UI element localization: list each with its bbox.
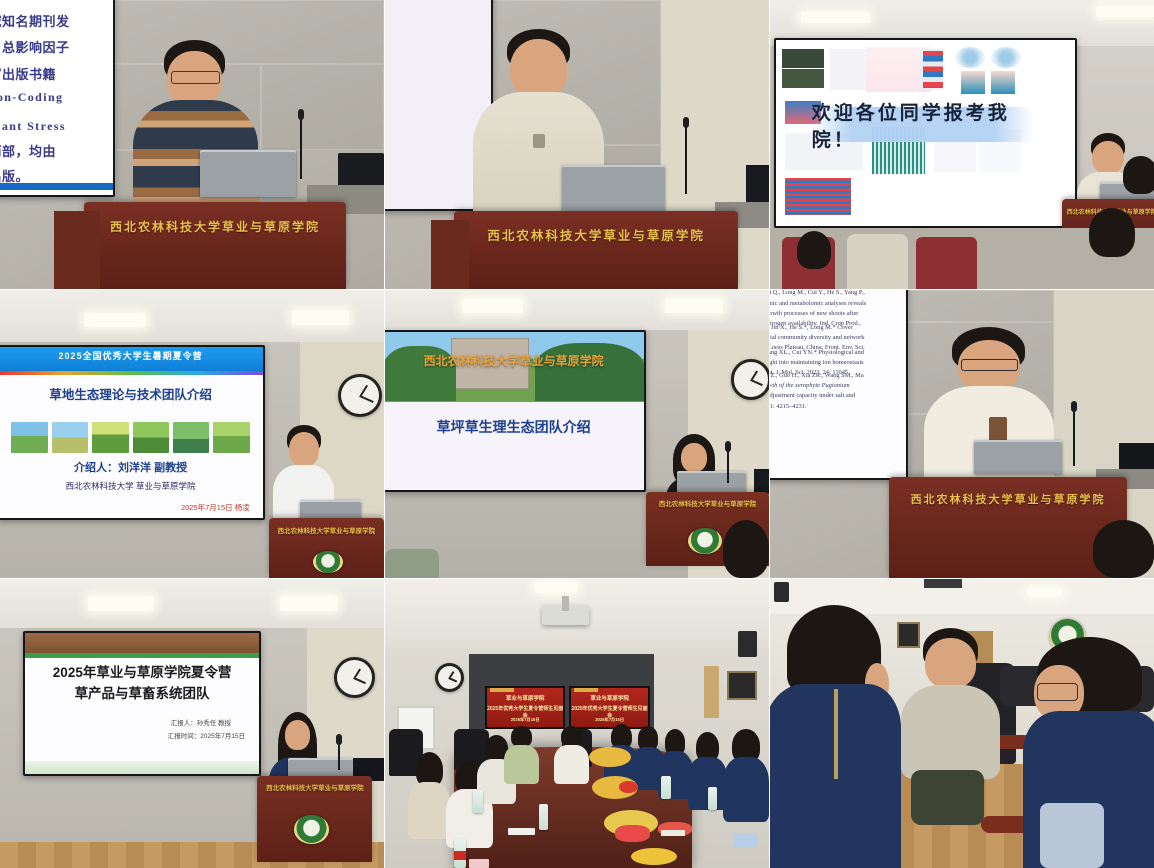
slide-line-5: 》两部，均由 xyxy=(0,141,56,160)
slide-banner-image xyxy=(25,633,259,653)
thumbnail xyxy=(52,422,88,453)
slide-affiliation: 西北农林科技大学 草业与草原学院 xyxy=(0,481,263,492)
torso xyxy=(408,782,450,839)
laptop[interactable] xyxy=(200,150,296,196)
audience-head xyxy=(797,231,832,269)
door xyxy=(704,666,719,718)
head xyxy=(925,638,977,689)
attendee-left xyxy=(504,726,539,784)
projector xyxy=(924,579,962,588)
wall-panel xyxy=(261,64,384,151)
head xyxy=(1092,141,1124,174)
faculty-member xyxy=(901,628,1001,825)
ceiling-light xyxy=(801,12,870,24)
shirt-graphic xyxy=(989,417,1007,441)
water-bottle xyxy=(661,776,671,799)
laptop[interactable] xyxy=(974,440,1062,475)
podium-side xyxy=(54,211,100,289)
wall-clock xyxy=(334,657,375,698)
slide-body: 草坪草生理生态团队介绍 xyxy=(385,402,644,490)
audience-head xyxy=(1089,208,1135,257)
glasses-icon xyxy=(961,359,1018,371)
reference-line: lfa regrowth processes of new shoots aft… xyxy=(770,309,900,319)
college-emblem xyxy=(688,528,722,554)
projection-screen: 欢迎各位同学报考我院！ xyxy=(774,38,1077,229)
shirt-logo xyxy=(533,134,545,148)
projection-screen: 西北农林科技大学草业与草原学院 草坪草生理生态团队介绍 xyxy=(385,330,646,491)
bananas xyxy=(631,848,677,865)
wall-panel xyxy=(908,290,1054,322)
reference-line: 2020, 71: 4215–4231. xyxy=(770,402,900,412)
microphone xyxy=(727,448,729,483)
monitor xyxy=(746,165,769,205)
collage-cell-1[interactable]: 领域知名期刊发 篇，总影响因子 编写出版书籍 g Non-Coding 《Pla… xyxy=(0,0,384,289)
thumbnail xyxy=(92,422,128,453)
microphone xyxy=(338,741,340,770)
slide-green-bar xyxy=(25,653,259,658)
reference-line: for growth of the xerophyte Pugionium xyxy=(770,381,900,391)
slide-date: 汇报时间：2025年7月15日 xyxy=(168,730,245,740)
collage-cell-2[interactable]: 西北农林科技大学草业与草原学院 xyxy=(385,0,769,289)
collage-cell-6[interactable]: g W., Li Q., Long M., Cui Y., He S., Yan… xyxy=(770,290,1154,578)
reference-line: scriptomic and metabolomic analyses reve… xyxy=(770,299,900,309)
fruit-platter xyxy=(589,747,631,767)
water-bottle xyxy=(539,804,549,830)
bar-chart xyxy=(961,71,985,93)
slide-line-6: 社出版。 xyxy=(0,166,29,185)
ceiling-light xyxy=(1027,588,1062,597)
podium-plaque: 西北农林科技大学草业与草原学院 xyxy=(269,525,384,535)
name-card xyxy=(508,828,535,835)
head xyxy=(681,443,706,472)
microphone xyxy=(300,116,302,180)
slide-surface: g W., Li Q., Long M., Cui Y., He S., Yan… xyxy=(770,290,906,478)
banner-line1: 草业与草原学院 xyxy=(485,694,566,702)
monitor xyxy=(754,469,769,495)
student-left xyxy=(770,605,901,868)
thumbnail xyxy=(173,422,209,453)
logo-strip xyxy=(574,688,598,692)
glasses-icon xyxy=(171,71,220,84)
college-emblem xyxy=(294,815,329,844)
slide-presenter: 汇报人：孙秀任 教授 xyxy=(171,717,231,727)
bar-chart xyxy=(991,71,1015,93)
water-bottle xyxy=(454,839,466,868)
collage-cell-3[interactable]: 欢迎各位同学报考我院！ 西北农林科技大学草业与草原学院 xyxy=(770,0,1154,289)
slide-line-0: 领域知名期刊发 xyxy=(0,11,69,30)
slide-line-4: 《Plant Stress xyxy=(0,117,66,134)
slide-footer: 2025年7月15日 杨凌 xyxy=(181,502,250,513)
slide-presenter: 介绍人：刘洋洋 副教授 xyxy=(0,462,263,476)
attendee-right xyxy=(723,729,769,821)
microphone xyxy=(685,124,687,193)
water-bottle xyxy=(708,787,718,810)
podium: 西北农林科技大学草业与草原学院 xyxy=(454,211,738,289)
slide-surface: 领域知名期刊发 篇，总影响因子 编写出版书籍 g Non-Coding 《Pla… xyxy=(0,0,113,195)
projection-screen: g W., Li Q., Long M., Cui Y., He S., Yan… xyxy=(770,290,908,480)
notebook xyxy=(734,833,757,847)
podium: 西北农林科技大学草业与草原学院 xyxy=(84,202,345,289)
ceiling-light xyxy=(88,596,153,610)
slide-surface: 2025年草业与草原学院夏令营 草产品与草畜系统团队 汇报人：孙秀任 教授 汇报… xyxy=(25,633,259,774)
reference-line: Wang FZ., Guo H., Xia ZR., Wang SM., Ma xyxy=(770,371,900,381)
poster-panel xyxy=(830,49,866,90)
photo-collage: 领域知名期刊发 篇，总影响因子 编写出版书籍 g Non-Coding 《Pla… xyxy=(0,0,1154,866)
reference-line: g J., Wang XL., Cui YN.* Physiological a… xyxy=(770,348,900,358)
slide-title-line2: 草产品与草畜系统团队 xyxy=(25,686,259,703)
podium-plaque: 西北农林科技大学草业与草原学院 xyxy=(84,218,345,235)
jeans xyxy=(1040,803,1104,868)
cell-image xyxy=(955,47,985,68)
podium-plaque: 西北农林科技大学草业与草原学院 xyxy=(454,225,738,244)
wall-picture-frame xyxy=(727,671,758,700)
ceiling-light xyxy=(292,310,350,324)
podium-plaque: 西北农林科技大学草业与草原学院 xyxy=(646,498,769,508)
ceiling-light xyxy=(535,582,577,594)
laptop[interactable] xyxy=(562,165,666,211)
name-card xyxy=(661,830,684,836)
thumbnail xyxy=(133,422,169,453)
reference-line: l-bacterial community diversity and netw… xyxy=(770,333,900,343)
wall-clock xyxy=(435,663,464,692)
reference-line: motic adjustment capacity under salt and xyxy=(770,391,900,401)
ceiling-light xyxy=(280,596,338,610)
glasses-icon xyxy=(1037,683,1078,701)
slide-header: 2025全国优秀大学生暑期夏令营 xyxy=(0,347,263,371)
torso xyxy=(554,745,589,784)
name-card xyxy=(469,859,488,868)
slide-header: 西北农林科技大学草业与草原学院 xyxy=(385,352,644,369)
reference-line: g W., Li Q., Long M., Cui Y., He S., Yan… xyxy=(770,290,900,299)
slide-title: 草坪草生理生态团队介绍 xyxy=(385,419,644,437)
lanyard xyxy=(834,689,838,778)
ceiling-light xyxy=(462,299,523,313)
podium: 西北农林科技大学草业与草原学院 xyxy=(889,477,1127,578)
legs xyxy=(911,770,985,825)
slide-surface: 2025全国优秀大学生暑期夏令营 草地生态理论与技术团队介绍 介绍人：刘洋洋 副… xyxy=(0,347,263,519)
slide-accent-bar xyxy=(0,183,113,190)
slide-line-3: g Non-Coding xyxy=(0,90,63,105)
collage-cell-8[interactable]: 草业与草原学院 2025年优秀大学生夏令营师生见面会 2025年7月15日 草业… xyxy=(385,579,769,868)
audience-head xyxy=(1093,520,1154,578)
poster-panel xyxy=(782,49,824,68)
water-bottle xyxy=(473,790,483,813)
seat xyxy=(916,237,977,289)
welcome-banner: 欢迎各位同学报考我院！ xyxy=(812,107,1034,142)
thumbnail xyxy=(213,422,249,453)
heatmap-panel xyxy=(785,178,851,215)
slide-thumbnails xyxy=(11,422,249,453)
ceiling-light xyxy=(665,299,723,313)
watermelon-slice xyxy=(615,825,650,842)
head xyxy=(285,720,310,750)
podium-plaque: 西北农林科技大学草业与草原学院 xyxy=(257,782,372,792)
ceiling-light xyxy=(1096,6,1154,18)
slide-title: 草地生态理论与技术团队介绍 xyxy=(0,388,263,404)
welcome-text: 欢迎各位同学报考我院！ xyxy=(812,98,1034,152)
collage-cell-7[interactable]: 2025年草业与草原学院夏令营 草产品与草畜系统团队 汇报人：孙秀任 教授 汇报… xyxy=(0,579,384,868)
cell-image xyxy=(991,47,1021,68)
torso xyxy=(504,745,539,784)
reference-block-4: Wang FZ., Guo H., Xia ZR., Wang SM., Ma … xyxy=(770,371,900,413)
faculty-center xyxy=(554,726,589,784)
banner-line3: 2025年7月15日 xyxy=(485,717,566,723)
wall-clock xyxy=(338,374,382,417)
speaker-box xyxy=(774,582,789,602)
red-screen-left: 草业与草原学院 2025年优秀大学生夏令营师生见面会 2025年7月15日 xyxy=(485,686,566,729)
slide-footer-bar xyxy=(25,761,259,774)
speaker-person xyxy=(924,327,1055,500)
banner-line3: 2025年7月15日 xyxy=(569,717,650,723)
slide-surface: 欢迎各位同学报考我院！ xyxy=(776,40,1075,227)
logo-strip xyxy=(490,688,514,692)
podium-side xyxy=(431,220,469,289)
reference-line: ide insight into maintaining ion homeost… xyxy=(770,358,900,368)
attendee-left xyxy=(408,752,450,839)
seat xyxy=(385,549,439,578)
projector-mount xyxy=(562,596,570,610)
collage-cell-5[interactable]: 西北农林科技大学草业与草原学院 草坪草生理生态团队介绍 西北农林科技大学草业与草… xyxy=(385,290,769,578)
slide-surface: 西北农林科技大学草业与草原学院 草坪草生理生态团队介绍 xyxy=(385,332,644,489)
wall-clock xyxy=(731,359,769,400)
head xyxy=(510,39,567,100)
poster-panel xyxy=(782,69,824,88)
torso-navy xyxy=(723,757,769,822)
podium: 西北农林科技大学草业与草原学院 xyxy=(257,776,372,863)
slide-line-2: 编写出版书籍 xyxy=(0,64,56,83)
slide-title-line1: 2025年草业与草原学院夏令营 xyxy=(25,665,259,682)
microphone xyxy=(1073,408,1075,466)
student-right xyxy=(1023,637,1154,868)
podium-plaque: 西北农林科技大学草业与草原学院 xyxy=(889,491,1127,507)
head xyxy=(289,432,320,467)
torso-polo xyxy=(901,685,1001,779)
collage-cell-9[interactable] xyxy=(770,579,1154,868)
banner-line1: 草业与草原学院 xyxy=(569,694,650,702)
projection-screen: 2025全国优秀大学生暑期夏令营 草地生态理论与技术团队介绍 介绍人：刘洋洋 副… xyxy=(0,345,265,521)
projection-screen: 领域知名期刊发 篇，总影响因子 编写出版书籍 g Non-Coding 《Pla… xyxy=(0,0,115,197)
slide-line-1: 篇，总影响因子 xyxy=(0,37,69,56)
apple xyxy=(619,781,638,793)
seat xyxy=(847,234,908,289)
speaker-box xyxy=(738,631,757,657)
reference-line: Tan H., Jin X., He S.*, Long M.* Cover xyxy=(770,323,900,333)
college-emblem xyxy=(313,551,343,573)
audience-head xyxy=(1123,156,1154,194)
ceiling-light xyxy=(84,313,145,327)
slide-rainbow-bar xyxy=(0,371,263,375)
heatmap-panel xyxy=(923,51,944,88)
thumbnail xyxy=(11,422,47,453)
projection-screen: 2025年草业与草原学院夏令营 草产品与草畜系统团队 汇报人：孙秀任 教授 汇报… xyxy=(23,631,261,776)
podium: 西北农林科技大学草业与草原学院 xyxy=(269,518,384,578)
collage-cell-4[interactable]: 2025全国优秀大学生暑期夏令营 草地生态理论与技术团队介绍 介绍人：刘洋洋 副… xyxy=(0,290,384,578)
campus-photo: 西北农林科技大学草业与草原学院 xyxy=(385,332,644,401)
audience-head xyxy=(723,520,769,578)
